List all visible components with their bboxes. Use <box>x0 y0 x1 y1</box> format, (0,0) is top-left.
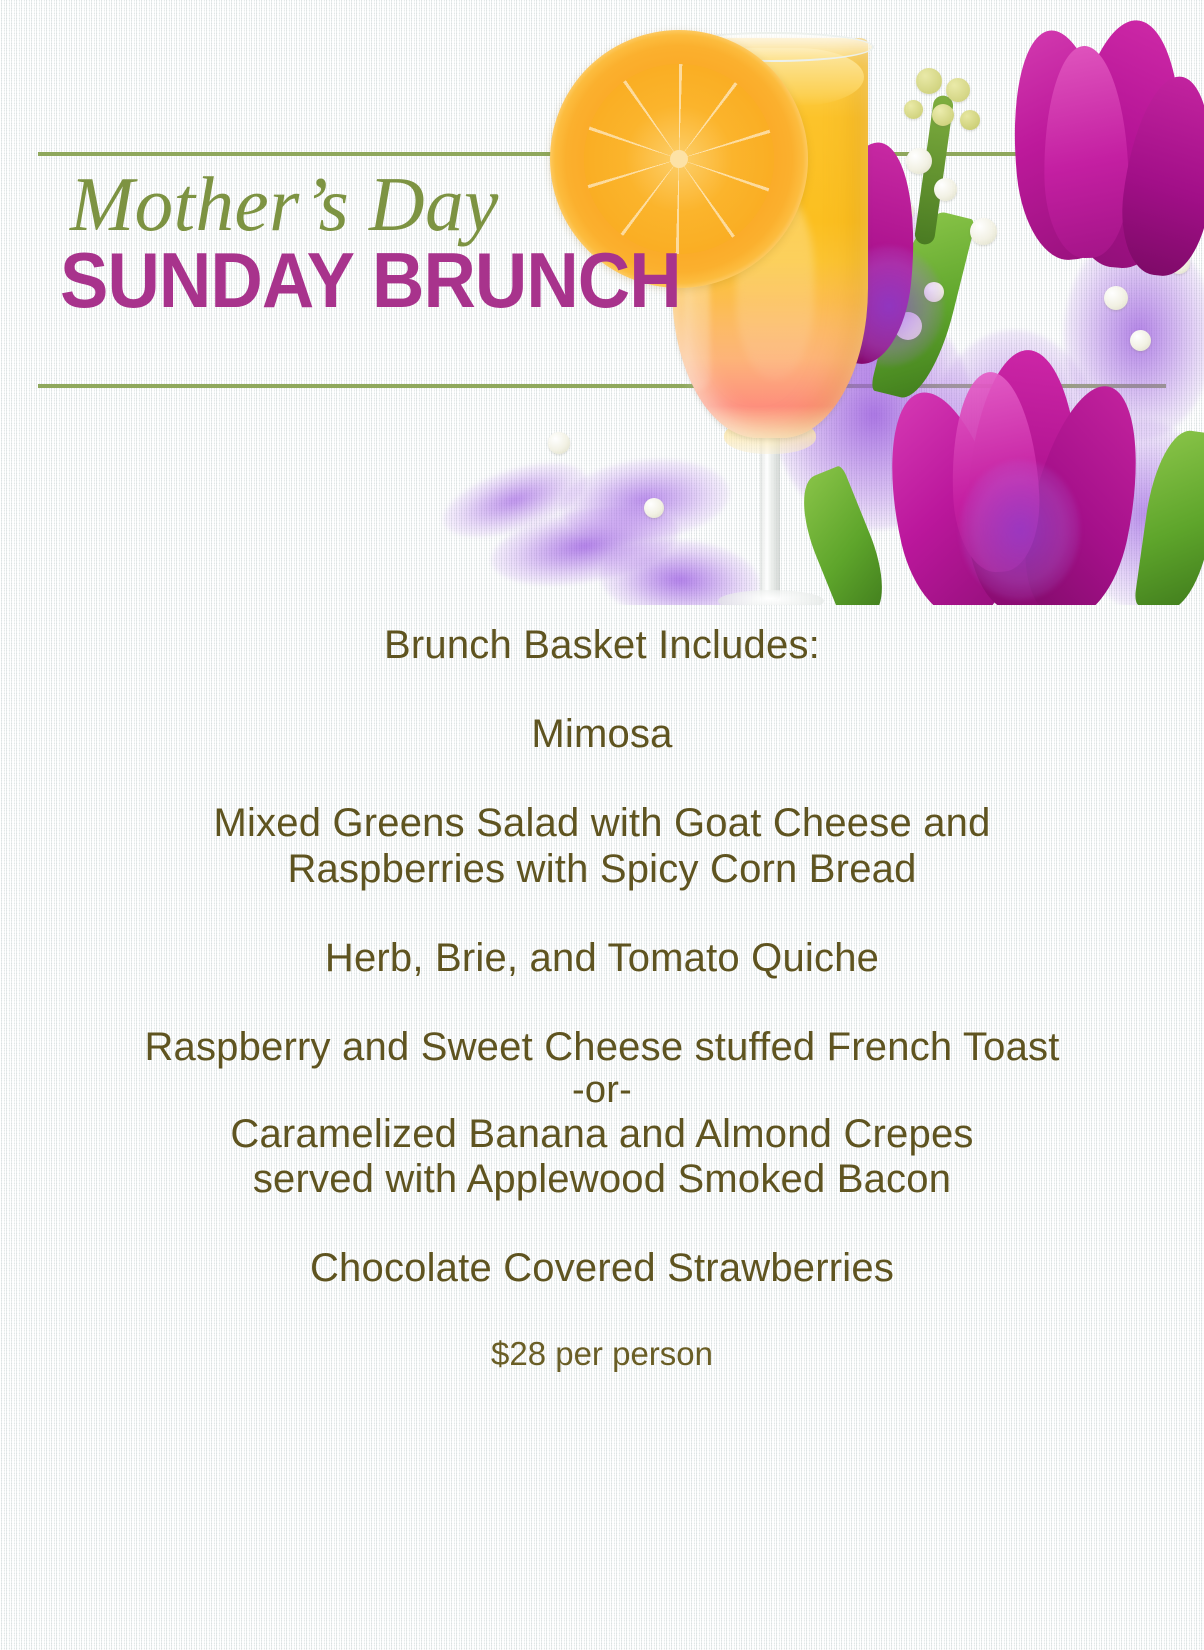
menu-item-line: Mimosa <box>0 712 1204 757</box>
menu-intro-block: Brunch Basket Includes: <box>0 623 1204 668</box>
waxflower-bud-icon <box>960 110 980 130</box>
menu-price: $28 per person <box>0 1335 1204 1373</box>
menu-item-line: Herb, Brie, and Tomato Quiche <box>0 936 1204 981</box>
menu-item-line: served with Applewood Smoked Bacon <box>0 1157 1204 1202</box>
menu-intro-text: Brunch Basket Includes: <box>0 623 1204 668</box>
white-berry-icon <box>1104 286 1128 310</box>
menu-item-line: Raspberry and Sweet Cheese stuffed Frenc… <box>0 1025 1204 1070</box>
menu-item-entree-choice: Raspberry and Sweet Cheese stuffed Frenc… <box>0 1025 1204 1202</box>
waxflower-bud-icon <box>946 78 970 102</box>
menu-item-line: Chocolate Covered Strawberries <box>0 1246 1204 1291</box>
white-berry-icon <box>970 218 997 245</box>
menu-item-salad: Mixed Greens Salad with Goat Cheese and … <box>0 801 1204 891</box>
lavender-sprig-icon <box>960 460 1080 600</box>
menu-item-dessert: Chocolate Covered Strawberries <box>0 1246 1204 1291</box>
menu-spacer <box>0 1291 1204 1321</box>
poster-page: Mother’s Day SUNDAY BRUNCH Brunch Basket… <box>0 0 1204 1650</box>
menu-item-mimosa: Mimosa <box>0 712 1204 757</box>
menu-item-line: Raspberries with Spicy Corn Bread <box>0 847 1204 892</box>
poster-title-block: Mother’s Day SUNDAY BRUNCH <box>60 168 727 317</box>
menu-item-quiche: Herb, Brie, and Tomato Quiche <box>0 936 1204 981</box>
tulip-flower-icon <box>1126 60 1204 290</box>
menu-item-or-separator: -or- <box>0 1070 1204 1112</box>
glass-stem <box>760 432 780 600</box>
white-berry-icon <box>548 432 570 454</box>
waxflower-bud-icon <box>916 68 942 94</box>
hero-banner: Mother’s Day SUNDAY BRUNCH <box>0 0 1204 605</box>
menu-item-line: Mixed Greens Salad with Goat Cheese and <box>0 801 1204 846</box>
menu-item-line: Caramelized Banana and Almond Crepes <box>0 1112 1204 1157</box>
white-berry-icon <box>934 178 957 201</box>
waxflower-bud-icon <box>932 104 954 126</box>
waxflower-bud-icon <box>904 100 923 119</box>
page-title-script: Mother’s Day <box>70 168 727 241</box>
glass-base <box>718 590 824 605</box>
menu-content: Brunch Basket Includes: Mimosa Mixed Gre… <box>0 605 1204 1373</box>
page-title-main: SUNDAY BRUNCH <box>60 243 681 317</box>
menu-section: Brunch Basket Includes: Mimosa Mixed Gre… <box>0 605 1204 1650</box>
